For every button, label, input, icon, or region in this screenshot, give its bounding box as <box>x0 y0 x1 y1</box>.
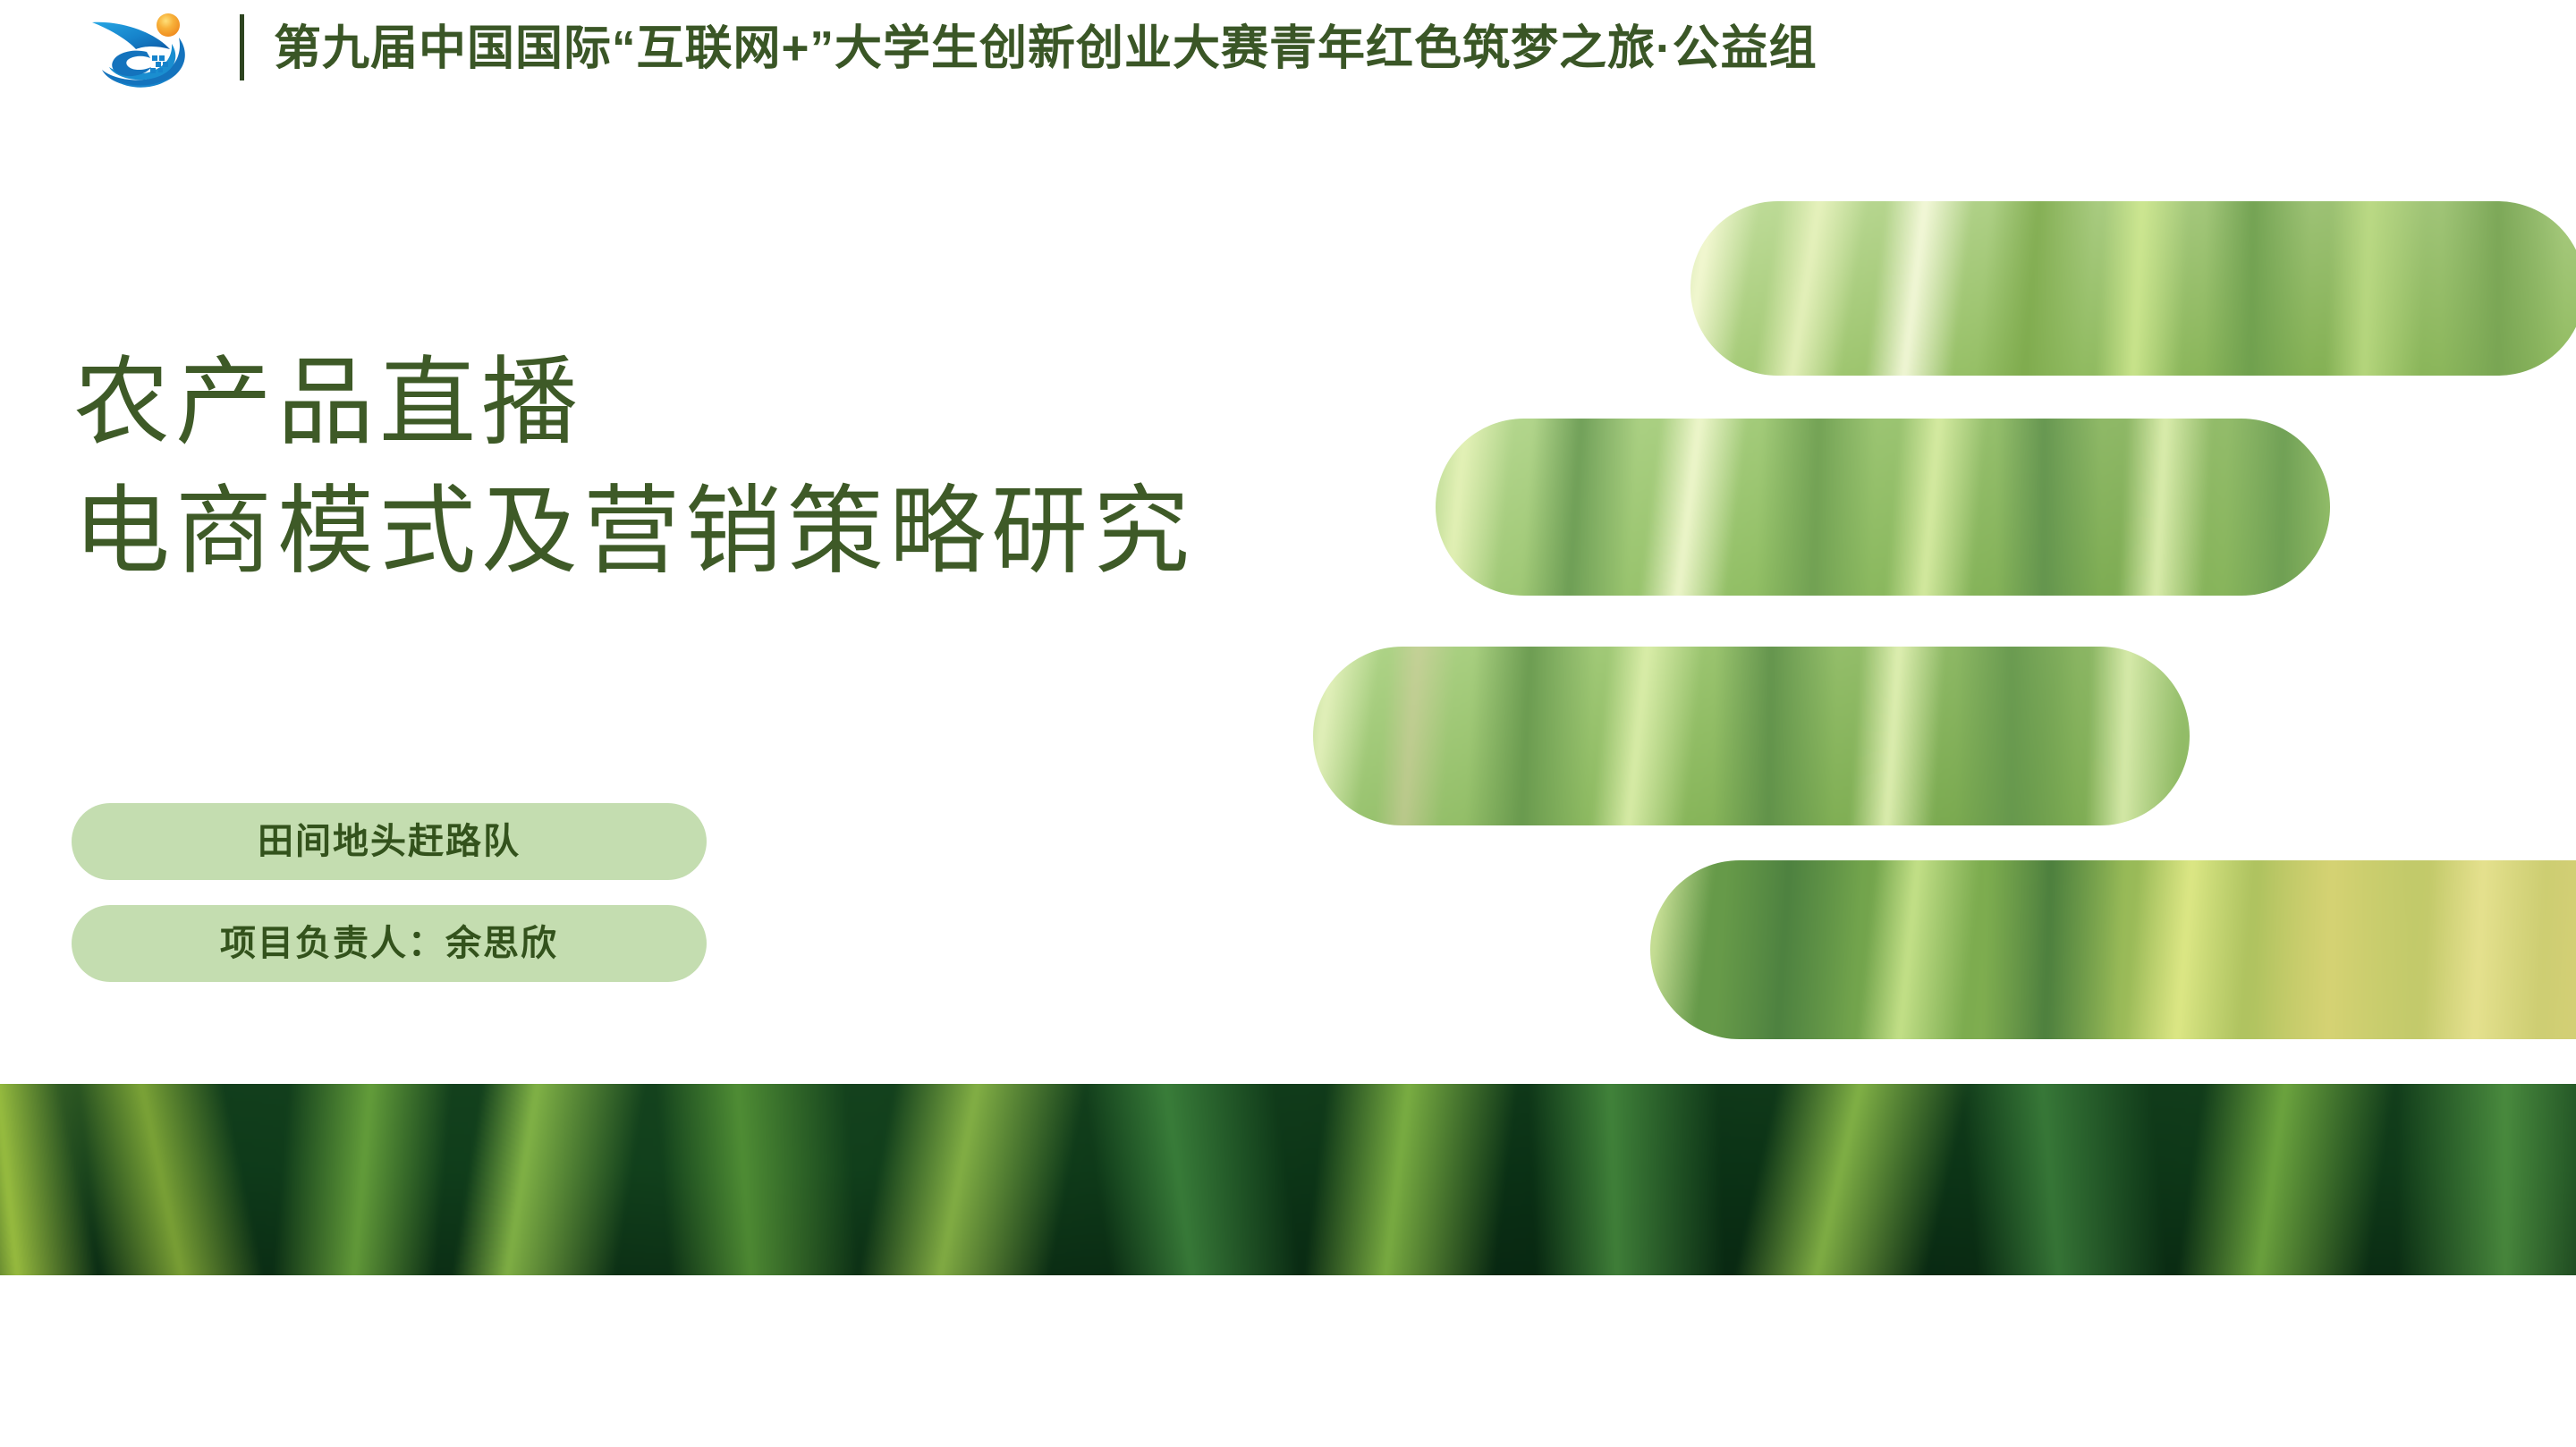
grass-bar-3 <box>1313 647 2190 825</box>
slide-title: 农产品直播 电商模式及营销策略研究 <box>73 338 1594 595</box>
logo-sun-icon <box>157 13 180 37</box>
grass-strip-bottom <box>0 1084 2576 1275</box>
grass-texture <box>1690 201 2576 376</box>
project-leader-pill: 项目负责人：余思欣 <box>72 905 707 982</box>
logo-e-icon <box>112 51 151 76</box>
team-info-group: 田间地头赶路队 项目负责人：余思欣 <box>72 803 707 1007</box>
grass-bar-4 <box>1650 860 2576 1039</box>
project-leader-label: 项目负责人：余思欣 <box>220 926 558 961</box>
competition-title: 第九届中国国际“互联网+”大学生创新创业大赛青年红色筑梦之旅·公益组 <box>274 25 1818 72</box>
grass-texture <box>1650 860 2576 1039</box>
header-divider <box>240 14 244 80</box>
title-line-1: 农产品直播 <box>73 338 1594 467</box>
team-name-pill: 田间地头赶路队 <box>72 803 707 880</box>
title-line-2: 电商模式及营销策略研究 <box>73 467 1594 596</box>
grass-bar-1 <box>1690 201 2576 376</box>
grass-texture-dark <box>0 1084 2576 1275</box>
slide-header: 第九届中国国际“互联网+”大学生创新创业大赛青年红色筑梦之旅·公益组 <box>0 0 2576 97</box>
grass-texture <box>1313 647 2190 825</box>
presentation-slide: 第九届中国国际“互联网+”大学生创新创业大赛青年红色筑梦之旅·公益组 农产品直播… <box>0 0 2576 1447</box>
team-name-label: 田间地头赶路队 <box>258 824 521 859</box>
competition-logo <box>70 5 204 91</box>
